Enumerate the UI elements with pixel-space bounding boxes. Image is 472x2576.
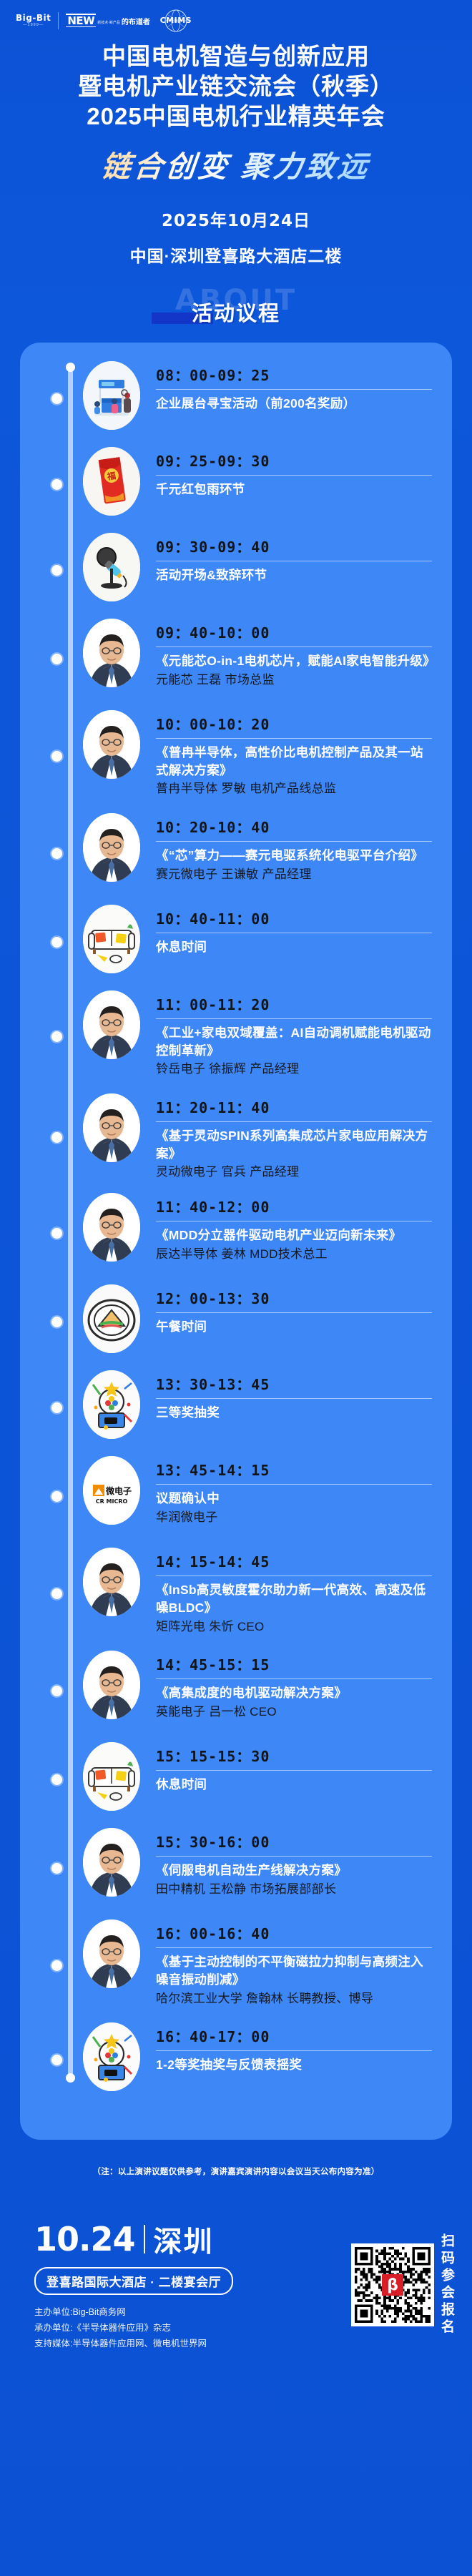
- speaker-photo: [83, 990, 140, 1059]
- agenda-item-body: 09：25-09：30千元红包雨环节: [140, 447, 432, 498]
- event-slogan: 链合创变 聚力致远: [0, 142, 472, 185]
- footer-organizer-line: 主办单位:Big-Bit商务网: [34, 2305, 233, 2321]
- speaker-photo: [83, 1193, 140, 1262]
- agenda-item-speaker: 矩阵光电 朱忻 CEO: [156, 1618, 432, 1636]
- agenda-item: 14：45-15：15《高集成度的电机驱动解决方案》英能电子 吕一松 CEO: [20, 1651, 452, 1731]
- agenda-item-rule: [156, 1484, 432, 1485]
- agenda-item: 12：00-13：30午餐时间: [20, 1284, 452, 1359]
- agenda-item-body: 13：45-14：15议题确认中华润微电子: [140, 1456, 432, 1526]
- agenda-item: 10：00-10：20《普冉半导体，高性价比电机控制产品及其一站式解决方案》普冉…: [20, 710, 452, 802]
- lottery-icon: [83, 1370, 140, 1439]
- timeline-dot: [51, 1228, 62, 1239]
- agenda-item-time: 09：25-09：30: [156, 450, 432, 471]
- agenda-item-time: 08：00-09：25: [156, 364, 432, 385]
- agenda-item-body: 15：15-15：30休息时间: [140, 1742, 432, 1794]
- footer-info: 10.24 深圳 登喜路国际大酒店 · 二楼宴会厅 主办单位:Big-Bit商务…: [34, 2218, 233, 2352]
- agenda-section-heading: ABOUT 活动议程: [0, 284, 472, 331]
- agenda-item-topic: 休息时间: [156, 1776, 432, 1794]
- lottery-icon: [83, 2022, 140, 2091]
- speaker-photo: [83, 1548, 140, 1616]
- new-evangelist-logo: NEW 新技术·新产品 的布道者: [66, 14, 150, 28]
- agenda-item-rule: [156, 1312, 432, 1313]
- agenda-item-time: 10：20-10：40: [156, 816, 432, 837]
- event-meta: 2025年10月24日 中国·深圳登喜路大酒店二楼: [0, 207, 472, 267]
- footer-organizers: 主办单位:Big-Bit商务网 承办单位:《半导体器件应用》杂志 支持媒体:半导…: [34, 2305, 233, 2352]
- agenda-item-rule: [156, 1121, 432, 1122]
- footer-date: 10.24: [34, 2220, 135, 2258]
- agenda-item-thumbnail: [83, 1742, 140, 1811]
- timeline-dot: [51, 1863, 62, 1874]
- poster-root: Big-Bit —1999— NEW 新技术·新产品 的布道者 CMIMS 中国…: [0, 0, 472, 2576]
- timeline-dot: [51, 1132, 62, 1143]
- agenda-item: 11：40-12：00《MDD分立器件驱动电机产业迈向新未来》辰达半导体 姜林 …: [20, 1193, 452, 1273]
- agenda-item-rule: [156, 389, 432, 390]
- agenda-item: 15：15-15：30休息时间: [20, 1742, 452, 1817]
- timeline-dot: [51, 1686, 62, 1696]
- agenda-item-topic: 《InSb高灵敏度霍尔助力新一代高效、高速及低噪BLDC》: [156, 1581, 432, 1617]
- agenda-item-time: 09：40-10：00: [156, 621, 432, 642]
- timeline-dot: [51, 2055, 62, 2065]
- agenda-item-rule: [156, 1575, 432, 1576]
- agenda-item-body: 11：40-12：00《MDD分立器件驱动电机产业迈向新未来》辰达半导体 姜林 …: [140, 1193, 432, 1263]
- agenda-item: 微电子 CR MICRO 13：45-14：15议题确认中华润微电子: [20, 1456, 452, 1536]
- agenda-item-thumbnail: 微电子 CR MICRO: [83, 1456, 140, 1525]
- agenda-item-rule: [156, 561, 432, 561]
- agenda-item-body: 09：30-09：40活动开场&致辞环节: [140, 533, 432, 584]
- agenda-item-rule: [156, 1947, 432, 1948]
- footer-date-row: 10.24 深圳: [34, 2218, 233, 2260]
- agenda-disclaimer: （注：以上演讲议题仅供参考，演讲嘉宾演讲内容以会议当天公布内容为准）: [0, 2165, 472, 2177]
- agenda-item-thumbnail: [83, 1651, 140, 1719]
- speaker-photo: [83, 710, 140, 779]
- lunch-icon: [83, 1284, 140, 1353]
- agenda-item-time: 14：45-15：15: [156, 1653, 432, 1674]
- agenda-item-topic: 企业展台寻宝活动（前200名奖励）: [156, 395, 432, 413]
- speaker-photo: [83, 619, 140, 687]
- title-line-1: 中国电机智造与创新应用: [0, 41, 472, 72]
- agenda-item: 15：30-16：00《伺服电机自动生产线解决方案》田中精机 王松静 市场拓展部…: [20, 1828, 452, 1908]
- agenda-item-body: 09：40-10：00《元能芯O-in-1电机芯片，赋能AI家电智能升级》元能芯…: [140, 619, 432, 689]
- agenda-item-rule: [156, 1770, 432, 1771]
- agenda-item-body: 15：30-16：00《伺服电机自动生产线解决方案》田中精机 王松静 市场拓展部…: [140, 1828, 432, 1898]
- agenda-item-speaker: 赛元微电子 王谦敏 产品经理: [156, 866, 432, 884]
- agenda-item-topic: 活动开场&致辞环节: [156, 566, 432, 584]
- agenda-item-topic: 《基于主动控制的不平衡磁拉力抑制与高频注入噪音振动削减》: [156, 1953, 432, 1989]
- logo-divider: [58, 12, 59, 29]
- section-title: 活动议程: [0, 297, 472, 327]
- agenda-item-thumbnail: [83, 2022, 140, 2091]
- sofa-icon: [83, 1742, 140, 1811]
- agenda-item-topic: 《普冉半导体，高性价比电机控制产品及其一站式解决方案》: [156, 744, 432, 780]
- agenda-item-topic: 《MDD分立器件驱动电机产业迈向新未来》: [156, 1226, 432, 1244]
- agenda-item-thumbnail: [83, 905, 140, 973]
- agenda-item: 08：00-09：25企业展台寻宝活动（前200名奖励）: [20, 361, 452, 436]
- agenda-item-thumbnail: [83, 533, 140, 601]
- footer-organizer-line: 承办单位:《半导体器件应用》杂志: [34, 2321, 233, 2336]
- agenda-item-body: 10：20-10：40《“芯”算力——赛元电驱系统化电驱平台介绍》赛元微电子 王…: [140, 813, 432, 883]
- agenda-item-topic: 《“芯”算力——赛元电驱系统化电驱平台介绍》: [156, 847, 432, 865]
- agenda-item-speaker: 英能电子 吕一松 CEO: [156, 1704, 432, 1721]
- speaker-photo: [83, 1093, 140, 1162]
- red-envelope-icon: 福: [83, 447, 140, 516]
- bigbit-logo-year: —1999—: [23, 24, 44, 28]
- agenda-item-time: 15：15-15：30: [156, 1745, 432, 1766]
- new-tag-text: 新技术·新产品: [97, 20, 120, 25]
- agenda-item-rule: [156, 1856, 432, 1857]
- agenda-item-topic: 千元红包雨环节: [156, 481, 432, 498]
- agenda-item-speaker: 田中精机 王松静 市场拓展部部长: [156, 1881, 432, 1899]
- agenda-item: 10：20-10：40《“芯”算力——赛元电驱系统化电驱平台介绍》赛元微电子 王…: [20, 813, 452, 893]
- new-mark-text: NEW: [66, 14, 96, 28]
- svg-text:微电子: 微电子: [105, 1485, 132, 1496]
- agenda-item-time: 11：00-11：20: [156, 993, 432, 1014]
- agenda-item-speaker: 普冉半导体 罗敏 电机产品线总监: [156, 780, 432, 798]
- booth-icon: [83, 361, 140, 430]
- agenda-item-body: 16：40-17：001-2等奖抽奖与反馈表摇奖: [140, 2022, 432, 2074]
- agenda-item-body: 10：00-10：20《普冉半导体，高性价比电机控制产品及其一站式解决方案》普冉…: [140, 710, 432, 798]
- agenda-item-body: 16：00-16：40《基于主动控制的不平衡磁拉力抑制与高频注入噪音振动削减》哈…: [140, 1919, 432, 2007]
- agenda-item-body: 10：40-11：00休息时间: [140, 905, 432, 956]
- agenda-item: 11：00-11：20《工业+家电双域覆盖：AI自动调机赋能电机驱动控制革新》铃…: [20, 990, 452, 1082]
- agenda-item-thumbnail: [83, 1370, 140, 1439]
- footer-venue-badge: 登喜路国际大酒店 · 二楼宴会厅: [34, 2267, 233, 2295]
- agenda-item: 16：40-17：001-2等奖抽奖与反馈表摇奖: [20, 2022, 452, 2097]
- agenda-item-rule: [156, 647, 432, 647]
- agenda-item-body: 11：00-11：20《工业+家电双域覆盖：AI自动调机赋能电机驱动控制革新》铃…: [140, 990, 432, 1078]
- timeline-dot: [51, 393, 62, 404]
- event-venue: 中国·深圳登喜路大酒店二楼: [0, 242, 472, 267]
- agenda-item-thumbnail: [83, 1919, 140, 1988]
- agenda-item: 11：20-11：40《基于灵动SPIN系列高集成芯片家电应用解决方案》灵动微电…: [20, 1093, 452, 1181]
- timeline-dot: [51, 654, 62, 664]
- title-line-3: 2025中国电机行业精英年会: [0, 102, 472, 132]
- speaker-photo: [83, 813, 140, 882]
- agenda-item-topic: 议题确认中: [156, 1490, 432, 1508]
- agenda-item-time: 14：15-14：45: [156, 1550, 432, 1571]
- timeline-dot: [51, 751, 62, 762]
- agenda-item-thumbnail: [83, 361, 140, 430]
- footer: 10.24 深圳 登喜路国际大酒店 · 二楼宴会厅 主办单位:Big-Bit商务…: [0, 2206, 472, 2371]
- footer-organizer-line: 支持媒体:半导体器件应用网、微电机世界网: [34, 2336, 233, 2352]
- agenda-item-thumbnail: [83, 990, 140, 1059]
- agenda-item-topic: 《伺服电机自动生产线解决方案》: [156, 1862, 432, 1879]
- speaker-photo: [83, 1651, 140, 1719]
- crmicro-logo: 微电子 CR MICRO: [83, 1456, 140, 1525]
- agenda-item: 16：00-16：40《基于主动控制的不平衡磁拉力抑制与高频注入噪音振动削减》哈…: [20, 1919, 452, 2011]
- agenda-item-speaker: 灵动微电子 官兵 产品经理: [156, 1164, 432, 1181]
- agenda-item-thumbnail: [83, 1193, 140, 1262]
- qr-code[interactable]: β: [351, 2243, 434, 2326]
- agenda-item-time: 15：30-16：00: [156, 1831, 432, 1852]
- agenda-item-topic: 三等奖抽奖: [156, 1404, 432, 1422]
- agenda-item-time: 09：30-09：40: [156, 536, 432, 556]
- agenda-item-body: 14：45-15：15《高集成度的电机驱动解决方案》英能电子 吕一松 CEO: [140, 1651, 432, 1721]
- timeline-dot: [51, 1402, 62, 1413]
- event-title-block: 中国电机智造与创新应用 暨电机产业链交流会（秋季） 2025中国电机行业精英年会…: [0, 41, 472, 185]
- agenda-item-thumbnail: [83, 1548, 140, 1616]
- agenda-item-thumbnail: 福: [83, 447, 140, 516]
- agenda-item-time: 12：00-13：30: [156, 1287, 432, 1308]
- agenda-item-topic: 休息时间: [156, 938, 432, 956]
- agenda-item-rule: [156, 1398, 432, 1399]
- footer-separator: [144, 2225, 145, 2253]
- event-date: 2025年10月24日: [0, 207, 472, 231]
- agenda-item-time: 11：20-11：40: [156, 1096, 432, 1117]
- agenda-item-thumbnail: [83, 1284, 140, 1353]
- agenda-item-rule: [156, 933, 432, 933]
- timeline-dot: [51, 1588, 62, 1599]
- cmims-logo-text: CMIMS: [157, 16, 195, 25]
- agenda-item-topic: 《元能芯O-in-1电机芯片，赋能AI家电智能升级》: [156, 652, 432, 670]
- agenda-item: 10：40-11：00休息时间: [20, 905, 452, 979]
- agenda-item-topic: 《基于灵动SPIN系列高集成芯片家电应用解决方案》: [156, 1127, 432, 1163]
- agenda-item-rule: [156, 475, 432, 476]
- footer-city: 深圳: [154, 2218, 214, 2260]
- new-cn-text: 的布道者: [122, 16, 150, 26]
- agenda-item-body: 08：00-09：25企业展台寻宝活动（前200名奖励）: [140, 361, 432, 413]
- agenda-item-time: 13：30-13：45: [156, 1373, 432, 1394]
- agenda-item-thumbnail: [83, 813, 140, 882]
- agenda-item: 13：30-13：45三等奖抽奖: [20, 1370, 452, 1445]
- timeline-dot: [51, 1491, 62, 1502]
- agenda-item-speaker: 辰达半导体 姜林 MDD技术总工: [156, 1246, 432, 1264]
- timeline-dot: [51, 848, 62, 859]
- timeline-dot: [51, 479, 62, 490]
- agenda-item-body: 14：15-14：45《InSb高灵敏度霍尔助力新一代高效、高速及低噪BLDC》…: [140, 1548, 432, 1636]
- agenda-item-rule: [156, 2050, 432, 2051]
- agenda-item-rule: [156, 1678, 432, 1679]
- agenda-item: 09：40-10：00《元能芯O-in-1电机芯片，赋能AI家电智能升级》元能芯…: [20, 619, 452, 699]
- agenda-item-time: 13：45-14：15: [156, 1459, 432, 1480]
- microphone-icon: [83, 533, 140, 601]
- agenda-item-rule: [156, 1221, 432, 1221]
- timeline-dot: [51, 1960, 62, 1971]
- qr-label: 扫码参会报名: [440, 2233, 453, 2336]
- agenda-item-topic: 《高集成度的电机驱动解决方案》: [156, 1684, 432, 1702]
- agenda-item-rule: [156, 1018, 432, 1019]
- agenda-item-speaker: 元能芯 王磊 市场总监: [156, 672, 432, 689]
- agenda-item-time: 16：40-17：00: [156, 2025, 432, 2046]
- agenda-item: 福 09：25-09：30千元红包雨环节: [20, 447, 452, 521]
- agenda-item-speaker: 华润微电子: [156, 1509, 432, 1527]
- agenda-list: 08：00-09：25企业展台寻宝活动（前200名奖励） 福 09：25-09：…: [20, 361, 452, 2097]
- agenda-item-topic: 1-2等奖抽奖与反馈表摇奖: [156, 2056, 432, 2074]
- agenda-item-topic: 午餐时间: [156, 1318, 432, 1336]
- agenda-item-body: 12：00-13：30午餐时间: [140, 1284, 432, 1336]
- svg-text:CR MICRO: CR MICRO: [96, 1498, 128, 1505]
- title-line-2: 暨电机产业链交流会（秋季）: [0, 72, 472, 102]
- agenda-card: 08：00-09：25企业展台寻宝活动（前200名奖励） 福 09：25-09：…: [20, 343, 452, 2140]
- agenda-item-rule: [156, 738, 432, 739]
- timeline-dot: [51, 1317, 62, 1327]
- timeline-dot: [51, 565, 62, 576]
- header-logo-bar: Big-Bit —1999— NEW 新技术·新产品 的布道者 CMIMS: [0, 0, 472, 31]
- timeline-dot: [51, 1774, 62, 1785]
- agenda-item-speaker: 哈尔滨工业大学 詹翰林 长聘教授、博导: [156, 1990, 432, 2008]
- cmims-logo: CMIMS: [157, 9, 195, 33]
- agenda-item-time: 16：00-16：40: [156, 1922, 432, 1943]
- bigbit-logo-text: Big-Bit: [16, 14, 51, 22]
- speaker-photo: [83, 1828, 140, 1897]
- timeline-dot: [51, 937, 62, 948]
- timeline-dot: [51, 1031, 62, 1042]
- speaker-photo: [83, 1919, 140, 1988]
- qr-center-logo: β: [382, 2274, 403, 2296]
- agenda-item-body: 13：30-13：45三等奖抽奖: [140, 1370, 432, 1422]
- agenda-item-thumbnail: [83, 1828, 140, 1897]
- bigbit-logo: Big-Bit —1999—: [16, 14, 51, 28]
- agenda-item-thumbnail: [83, 1093, 140, 1162]
- agenda-item-thumbnail: [83, 710, 140, 779]
- agenda-item-time: 10：00-10：20: [156, 713, 432, 734]
- agenda-item-time: 10：40-11：00: [156, 908, 432, 928]
- agenda-item: 09：30-09：40活动开场&致辞环节: [20, 533, 452, 607]
- agenda-item-speaker: 铃岳电子 徐振辉 产品经理: [156, 1061, 432, 1078]
- svg-text:福: 福: [106, 470, 117, 482]
- agenda-item: 14：15-14：45《InSb高灵敏度霍尔助力新一代高效、高速及低噪BLDC》…: [20, 1548, 452, 1639]
- agenda-item-thumbnail: [83, 619, 140, 687]
- agenda-item-body: 11：20-11：40《基于灵动SPIN系列高集成芯片家电应用解决方案》灵动微电…: [140, 1093, 432, 1181]
- sofa-icon: [83, 905, 140, 973]
- footer-qr-block[interactable]: β 扫码参会报名: [351, 2233, 453, 2336]
- agenda-item-rule: [156, 841, 432, 842]
- agenda-item-time: 11：40-12：00: [156, 1196, 432, 1216]
- agenda-item-topic: 《工业+家电双域覆盖：AI自动调机赋能电机驱动控制革新》: [156, 1024, 432, 1060]
